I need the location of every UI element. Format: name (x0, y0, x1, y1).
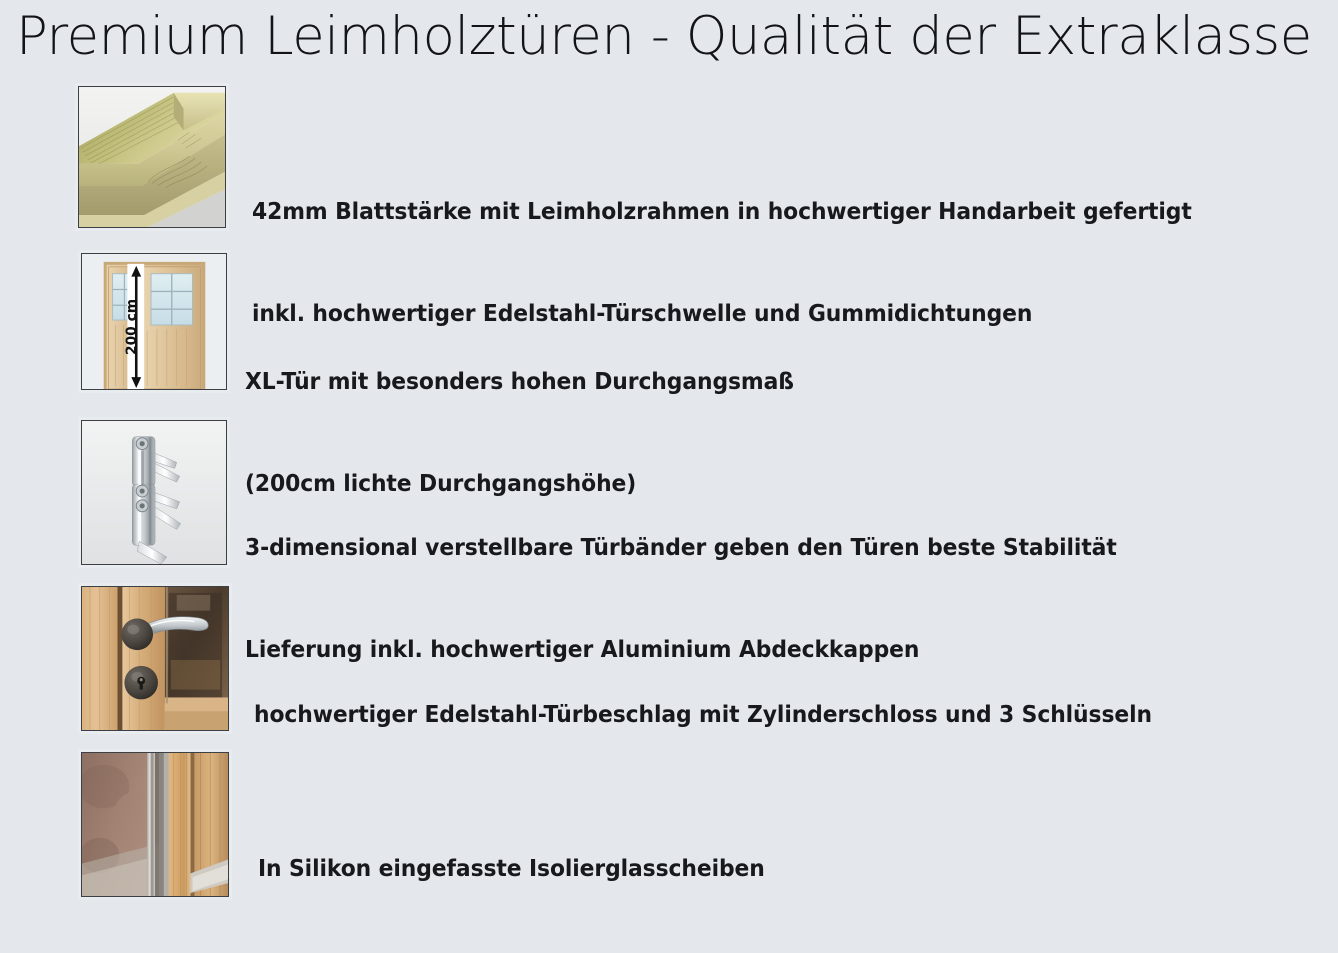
feature-line: hochwertiger Edelstahl-Türbeschlag mit Z… (254, 697, 1152, 731)
feature-description: In Silikon eingefasste Isolierglasscheib… (258, 783, 765, 953)
feature-thumbnail-handle (81, 586, 229, 731)
feature-line: In Silikon eingefasste Isolierglasscheib… (258, 851, 765, 885)
dimension-label-200cm: 200 cm (124, 299, 140, 355)
thumb-inner (82, 421, 226, 564)
feature-line: XL-Tür mit besonders hohen Durchgangsmaß (245, 364, 794, 398)
thumb-inner (82, 587, 228, 730)
feature-thumbnail-hinge (81, 420, 227, 565)
door-handle-lock-photo (82, 587, 228, 730)
feature-thumbnail-insulated-glass (81, 752, 229, 897)
leimholzrahmen-door-edge-photo (79, 87, 225, 227)
page-title: Premium Leimholztüren - Qualität der Ext… (16, 4, 1319, 70)
feature-thumbnail-leimholzrahmen (78, 86, 226, 228)
xl-door-height-diagram: 200 cm (82, 254, 226, 389)
insulated-glass-photo (82, 753, 228, 896)
feature-thumbnail-xl-door: 200 cm (81, 253, 227, 390)
feature-description: hochwertiger Edelstahl-Türbeschlag mit Z… (254, 629, 1152, 799)
adjustable-hinge-photo (82, 421, 226, 564)
thumb-inner (82, 753, 228, 896)
thumb-inner: 200 cm (82, 254, 226, 389)
feature-line: 42mm Blattstärke mit Leimholzrahmen in h… (252, 194, 1192, 228)
thumb-inner (79, 87, 225, 227)
feature-line: 3-dimensional verstellbare Türbänder geb… (245, 530, 1117, 564)
